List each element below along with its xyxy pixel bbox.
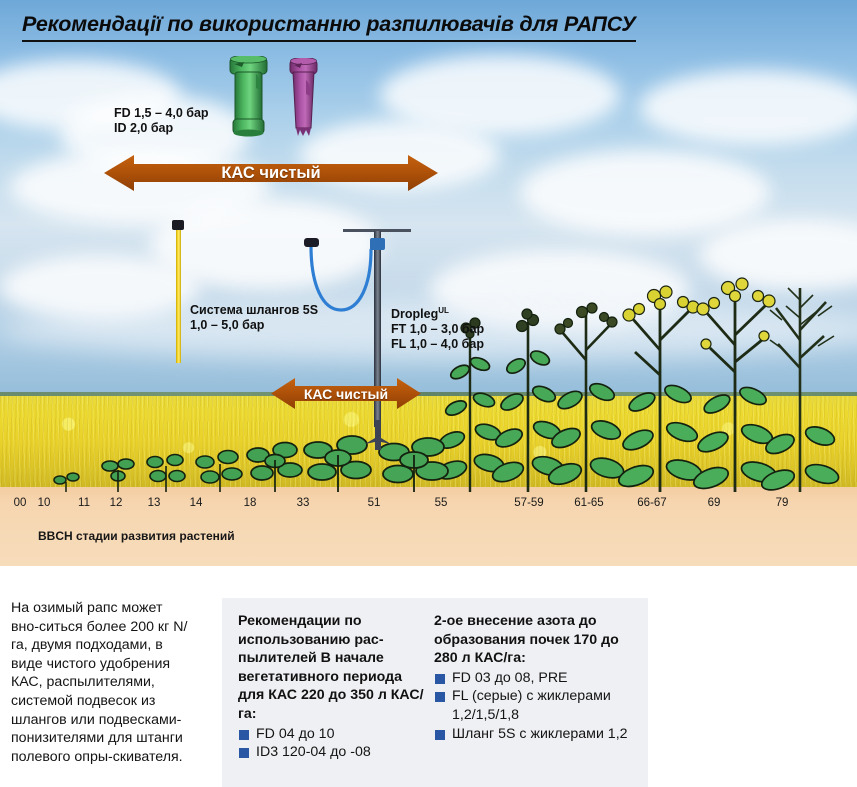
cloud-icon [640, 70, 857, 145]
cloud-icon [0, 255, 200, 320]
bbch-scale: 0010111213141833515557-5961-6566-676979 [0, 497, 857, 515]
bbch-stage-33: 33 [297, 497, 310, 509]
dropleg-label: DroplegUL FT 1,0 – 3,0 бар FL 1,0 – 4,0 … [391, 303, 484, 352]
bbch-stage-13: 13 [148, 497, 161, 509]
bbch-stage-61-65: 61-65 [574, 497, 603, 509]
nozzle-recommendation-item: FD 04 до 10 [238, 725, 424, 744]
arrow-kas-bottom: КАС чистый [271, 377, 421, 410]
nozzle-recommendation-item: FD 03 до 08, PRE [434, 669, 640, 688]
nozzle-label-line-2: ID 2,0 бар [114, 121, 209, 136]
cloud-icon [380, 55, 620, 135]
first-application-heading: Рекомендации по использованию рас-пылите… [238, 612, 424, 724]
infographic-panel: Рекомендації по використанню разпилювачі… [0, 0, 857, 566]
cloud-icon [520, 150, 770, 235]
bbch-stage-11: 11 [78, 497, 90, 509]
hose-system-label: Система шлангов 5S 1,0 – 5,0 бар [190, 303, 318, 333]
dropleg-label-title: DroplegUL [391, 303, 484, 322]
bbch-stage-57-59: 57-59 [514, 497, 543, 509]
hose-system-pole [176, 228, 181, 363]
hose-pole-cap-icon [172, 220, 184, 230]
arrow-kas-top: КАС чистый [104, 153, 438, 193]
nozzle-label-line-1: FD 1,5 – 4,0 бар [114, 106, 209, 121]
bbch-stage-69: 69 [708, 497, 721, 509]
bbch-stage-18: 18 [244, 497, 257, 509]
dropleg-head-icon [370, 238, 385, 250]
bbch-stage-55: 55 [435, 497, 448, 509]
dropleg-label-line-1: FT 1,0 – 3,0 бар [391, 322, 484, 337]
first-application-list: FD 04 до 10ID3 120-04 до -08 [238, 725, 424, 762]
nozzle-purple-icon [288, 58, 319, 138]
second-application-list: FD 03 до 08, PREFL (серые) с жиклерами 1… [434, 669, 640, 743]
nozzle-pressure-label: FD 1,5 – 4,0 бар ID 2,0 бар [114, 106, 209, 136]
recommendations-panel: Рекомендации по использованию рас-пылите… [222, 598, 648, 787]
bottom-text-area: На озимый рапс может вно-ситься более 20… [0, 566, 857, 787]
bbch-stage-12: 12 [110, 497, 123, 509]
double-arrow-icon [271, 377, 421, 410]
hose-label-line-2: 1,0 – 5,0 бар [190, 318, 318, 333]
field-texture [0, 396, 857, 490]
dropleg-label-superscript: UL [438, 306, 449, 315]
nozzle-recommendation-item: FL (серые) с жиклерами 1,2/1,5/1,8 [434, 687, 640, 724]
nozzle-green-icon [228, 56, 269, 138]
page-title: Рекомендації по використанню разпилювачі… [22, 12, 636, 42]
bbch-stage-10: 10 [38, 497, 51, 509]
bbch-stage-79: 79 [776, 497, 789, 509]
intro-paragraph: На озимый рапс может вно-ситься более 20… [11, 599, 191, 766]
bbch-stage-66-67: 66-67 [637, 497, 666, 509]
bbch-stage-51: 51 [368, 497, 381, 509]
dropleg-label-line-2: FL 1,0 – 4,0 бар [391, 337, 484, 352]
nozzle-recommendation-item: ID3 120-04 до -08 [238, 743, 424, 762]
second-application-heading: 2-ое внесение азота до образования почек… [434, 612, 640, 668]
hose-nozzle-cap-icon [304, 238, 319, 247]
bbch-stage-00: 00 [14, 497, 27, 509]
dropleg-foot-icon [364, 420, 392, 450]
bbch-stage-14: 14 [190, 497, 203, 509]
bbch-caption: BBCH стадии развития растений [38, 529, 235, 543]
nozzle-recommendation-item: Шланг 5S с жиклерами 1,2 [434, 725, 640, 744]
hose-label-line-1: Система шлангов 5S [190, 303, 318, 318]
recommendation-column-first-application: Рекомендации по использованию рас-пылите… [238, 612, 424, 762]
double-arrow-icon [104, 153, 438, 193]
recommendation-column-second-application: 2-ое внесение азота до образования почек… [434, 612, 640, 743]
